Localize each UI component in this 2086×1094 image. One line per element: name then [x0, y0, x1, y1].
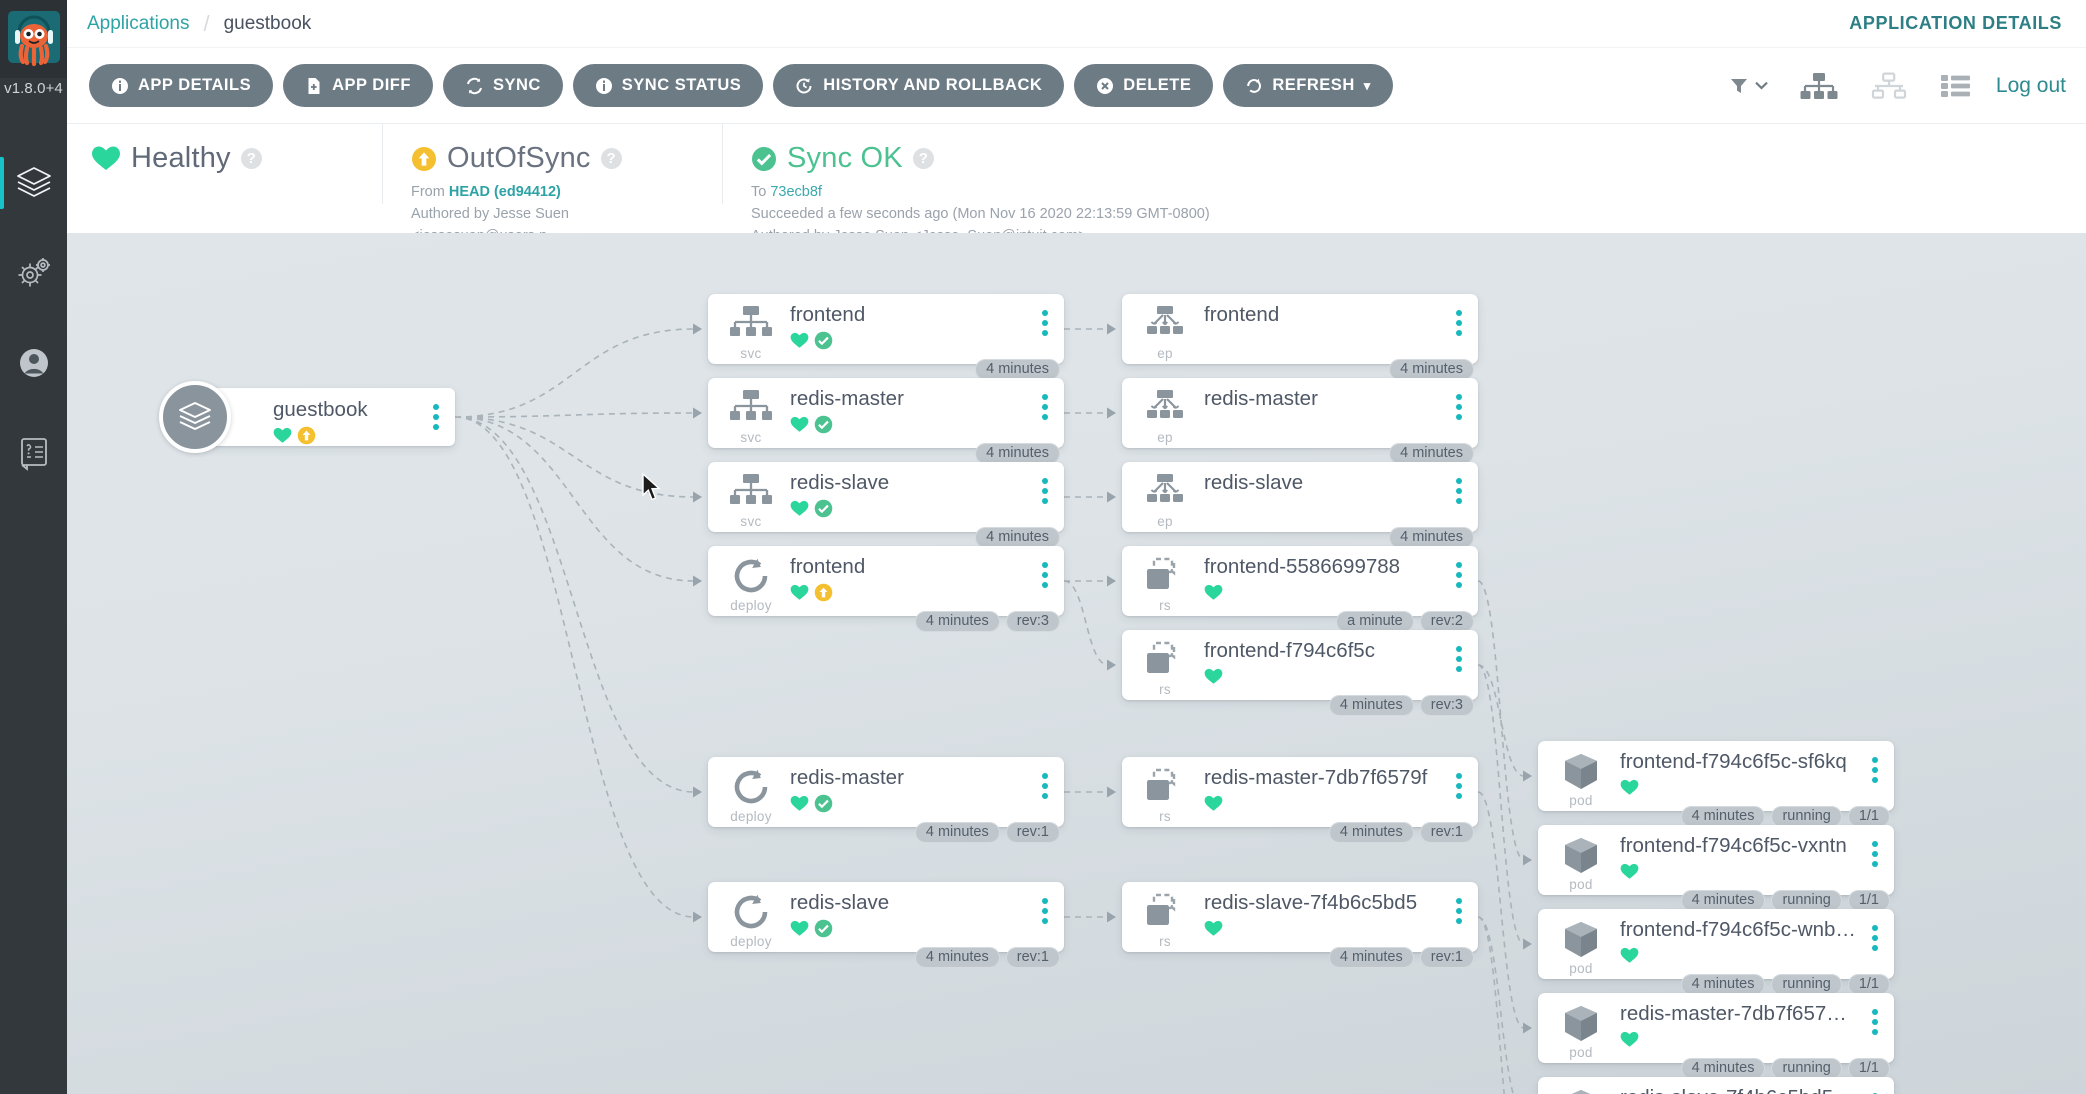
node-status-icons [1204, 794, 1223, 813]
node-kind-icon [724, 893, 778, 936]
left-sidebar: v1.8.0+4 [0, 0, 67, 1094]
chevron-down-icon [1755, 81, 1768, 90]
node-pod-fe-sf6kq[interactable]: pod frontend-f794c6f5c-sf6kq 4 minutesru… [1538, 741, 1894, 811]
node-kind-label: rs [1138, 682, 1192, 697]
node-pill: rev:1 [1420, 947, 1474, 968]
node-kind-label: ep [1138, 514, 1192, 529]
node-body: svc redis-master 4 minutes [708, 378, 1064, 448]
breadcrumb-applications[interactable]: Applications [87, 13, 189, 35]
edge-arrowhead [693, 576, 702, 587]
node-pill: 4 minutes [975, 359, 1060, 380]
node-pill: 4 minutes [1681, 806, 1766, 827]
node-title: redis-master-7db7f6579f-q5v8s [1620, 1002, 1858, 1026]
sync-revision[interactable]: HEAD (ed94412) [449, 184, 561, 200]
node-status-icons [1204, 919, 1223, 938]
node-kind-icon [724, 473, 778, 514]
argocd-application-view: v1.8.0+4 [0, 0, 2086, 1094]
node-kind-icon [1138, 893, 1192, 936]
node-deploy-redis-slave[interactable]: deploy redis-slave 4 minutesrev:1 [708, 882, 1064, 952]
tree-view-icon [1800, 71, 1838, 101]
heart-icon [1204, 667, 1223, 686]
node-kind-icon [724, 389, 778, 430]
node-pill: 4 minutes [1389, 359, 1474, 380]
node-menu-button[interactable] [1040, 394, 1050, 420]
deployment-icon [730, 893, 772, 931]
service-icon [729, 305, 773, 341]
edge-arrowhead [693, 787, 702, 798]
pod-icon [1559, 836, 1603, 876]
chevron-down-icon: ▾ [1364, 78, 1371, 94]
replicaset-icon [1143, 893, 1187, 931]
node-svc-redis-slave[interactable]: svc redis-slave 4 minutes [708, 462, 1064, 532]
info-icon [595, 77, 613, 95]
history-and-rollback-button-label: HISTORY AND ROLLBACK [823, 76, 1042, 95]
node-pill: rev:1 [1006, 822, 1060, 843]
node-title: redis-master [790, 387, 1028, 411]
check-circle-icon [814, 794, 833, 813]
operation-succeeded-line: Succeeded a few seconds ago (Mon Nov 16 … [751, 203, 1362, 225]
node-kind-icon [724, 305, 778, 346]
heart-icon [1620, 1030, 1639, 1049]
node-status-icons [1620, 862, 1639, 881]
edge-arrowhead [1523, 1023, 1532, 1034]
refresh-icon [1245, 77, 1263, 95]
node-deploy-redis-master[interactable]: deploy redis-master 4 minutesrev:1 [708, 757, 1064, 827]
edge-arrowhead [1107, 492, 1116, 503]
edge-arrowhead [693, 492, 702, 503]
heart-icon [1204, 794, 1223, 813]
node-body: ep frontend 4 minutes [1122, 294, 1478, 364]
node-status-icons [790, 499, 833, 518]
health-status-panel: Healthy ? [67, 124, 382, 175]
node-pill: 1/1 [1848, 806, 1890, 827]
node-pill: running [1771, 806, 1841, 827]
node-pills: 4 minutes [1389, 359, 1474, 380]
node-pills: a minuterev:2 [1336, 611, 1474, 632]
node-kind-label: pod [1554, 1045, 1608, 1060]
tree-view-button[interactable] [1784, 71, 1854, 101]
node-status-icons [273, 426, 316, 445]
node-kind-icon [1138, 768, 1192, 811]
deployment-icon [730, 557, 772, 595]
node-kind-label: deploy [724, 598, 778, 613]
node-body: rs redis-master-7db7f6579f 4 minutesrev:… [1122, 757, 1478, 827]
service-icon [729, 473, 773, 509]
node-body: pod frontend-f794c6f5c-vxntn 4 minutesru… [1538, 825, 1894, 895]
heart-icon [273, 426, 292, 445]
node-pill: 4 minutes [975, 443, 1060, 464]
heart-icon [91, 145, 121, 172]
check-circle-icon [814, 415, 833, 434]
node-pills: 4 minutesrunning1/1 [1681, 890, 1890, 911]
arrow-up-circle-icon [411, 146, 437, 172]
node-kind-icon [1138, 389, 1192, 430]
top-header: Applications / guestbook APPLICATION DET… [67, 0, 2086, 48]
node-menu-button[interactable] [1870, 925, 1880, 951]
pod-icon [1559, 1088, 1603, 1094]
operation-revision-line: To 73ecb8f [751, 181, 1362, 203]
edge-arrowhead [1107, 408, 1116, 419]
node-title: frontend [790, 555, 1028, 579]
status-strip: Healthy ? OutOfSync ? From HEAD (ed94412… [67, 124, 2086, 233]
node-kind-label: rs [1138, 598, 1192, 613]
sync-button[interactable]: SYNC [443, 64, 563, 107]
operation-to-prefix: To [751, 184, 770, 200]
argo-logo[interactable] [0, 0, 67, 78]
node-title: redis-slave [790, 471, 1028, 495]
node-body: pod redis-slave-7f4b6c5bd5-mrlt4 4 minut… [1538, 1077, 1894, 1094]
node-menu-button[interactable] [1454, 310, 1464, 336]
edge-arrowhead [1107, 324, 1116, 335]
node-title: guestbook [273, 398, 368, 422]
node-title: redis-slave [1204, 471, 1442, 495]
node-menu-button[interactable] [1454, 394, 1464, 420]
node-menu-button[interactable] [431, 404, 441, 430]
node-body: deploy redis-master 4 minutesrev:1 [708, 757, 1064, 827]
sidebar-item-documentation[interactable] [0, 408, 67, 498]
book-icon [17, 434, 51, 472]
node-pills: 4 minutesrev:1 [1329, 822, 1474, 843]
filter-button[interactable] [1713, 76, 1784, 96]
node-menu-button[interactable] [1040, 562, 1050, 588]
heart-icon [1620, 862, 1639, 881]
node-pill: a minute [1336, 611, 1414, 632]
node-body: ep redis-slave 4 minutes [1122, 462, 1478, 532]
breadcrumb-separator: / [203, 11, 209, 37]
node-pills: 4 minutes [975, 527, 1060, 548]
node-kind-icon [1138, 557, 1192, 600]
node-body: pod redis-master-7db7f6579f-q5v8s 4 minu… [1538, 993, 1894, 1063]
node-pill: 4 minutes [1329, 695, 1414, 716]
delete-button-label: DELETE [1123, 76, 1191, 95]
sidebar-item-applications[interactable] [0, 138, 67, 228]
octopus-logo-icon [7, 10, 61, 68]
node-rs-redis-slave[interactable]: rs redis-slave-7f4b6c5bd5 4 minutesrev:1 [1122, 882, 1478, 952]
heart-icon [790, 415, 809, 434]
edge-arrowhead [693, 324, 702, 335]
check-circle-icon [814, 919, 833, 938]
node-title: redis-master [790, 766, 1028, 790]
sidebar-nav [0, 138, 67, 498]
history-and-rollback-button[interactable]: HISTORY AND ROLLBACK [773, 64, 1064, 107]
close-circle-icon [1096, 77, 1114, 95]
edge-arrowhead [1107, 912, 1116, 923]
node-pill: rev:2 [1420, 611, 1474, 632]
node-menu-button[interactable] [1454, 478, 1464, 504]
node-pill: 4 minutes [1329, 822, 1414, 843]
node-kind-label: deploy [724, 934, 778, 949]
node-status-icons [1204, 667, 1223, 686]
check-circle-icon [814, 499, 833, 518]
node-title: frontend-f794c6f5c-wnbmp [1620, 918, 1858, 942]
node-body: deploy frontend 4 minutesrev:3 [708, 546, 1064, 616]
replicaset-icon [1143, 557, 1187, 595]
operation-status-panel: Sync OK ? To 73ecb8f Succeeded a few sec… [722, 124, 1362, 204]
node-kind-label: ep [1138, 430, 1192, 445]
info-icon [111, 77, 129, 95]
node-title: frontend-f794c6f5c-sf6kq [1620, 750, 1858, 774]
node-body: rs frontend-f794c6f5c 4 minutesrev:3 [1122, 630, 1478, 700]
node-kind-icon [1554, 1088, 1608, 1094]
node-status-icons [790, 583, 833, 602]
check-circle-icon [814, 331, 833, 350]
arrow-up-circle-icon [297, 426, 316, 445]
node-pills: 4 minutesrev:1 [915, 947, 1060, 968]
refresh-button-label: REFRESH [1272, 76, 1354, 95]
node-kind-icon [1138, 305, 1192, 346]
node-app-icon-badge[interactable] [159, 381, 231, 453]
node-pod-rs-mrlt4[interactable]: pod redis-slave-7f4b6c5bd5-mrlt4 4 minut… [1538, 1077, 1894, 1094]
gear-icon [15, 256, 53, 290]
network-view-icon [1870, 71, 1908, 101]
node-pill: 4 minutes [1389, 443, 1474, 464]
heart-icon [790, 919, 809, 938]
toolbar-buttons: APP DETAILS APP DIFF SYNC [89, 64, 1393, 107]
node-kind-icon [1554, 920, 1608, 965]
heart-icon [1204, 919, 1223, 938]
node-deploy-frontend[interactable]: deploy frontend 4 minutesrev:3 [708, 546, 1064, 616]
node-pills: 4 minutes [1389, 443, 1474, 464]
node-rs-redis-master[interactable]: rs redis-master-7db7f6579f 4 minutesrev:… [1122, 757, 1478, 827]
node-menu-button[interactable] [1040, 310, 1050, 336]
node-body: rs frontend-5586699788 a minuterev:2 [1122, 546, 1478, 616]
sidebar-item-user-info[interactable] [0, 318, 67, 408]
node-menu-button[interactable] [1040, 898, 1050, 924]
node-ep-redis-master[interactable]: ep redis-master 4 minutes [1122, 378, 1478, 448]
node-menu-button[interactable] [1454, 562, 1464, 588]
replicaset-icon [1143, 641, 1187, 679]
node-menu-button[interactable] [1040, 478, 1050, 504]
node-kind-label: deploy [724, 809, 778, 824]
node-kind-icon [1138, 641, 1192, 684]
node-pod-rm-q5v8s[interactable]: pod redis-master-7db7f6579f-q5v8s 4 minu… [1538, 993, 1894, 1063]
edge-arrowhead [1107, 787, 1116, 798]
node-pills: 4 minutesrunning1/1 [1681, 806, 1890, 827]
operation-help-icon[interactable]: ? [913, 148, 934, 169]
node-title: frontend [1204, 303, 1442, 327]
node-rs-frontend-f794c6f5c[interactable]: rs frontend-f794c6f5c 4 minutesrev:3 [1122, 630, 1478, 700]
node-pill: 4 minutes [1329, 947, 1414, 968]
sync-icon [465, 77, 484, 95]
node-title: redis-master [1204, 387, 1442, 411]
node-pills: 4 minutes [975, 359, 1060, 380]
heart-icon [1620, 778, 1639, 797]
node-pill: 4 minutes [915, 611, 1000, 632]
node-kind-label: pod [1554, 793, 1608, 808]
node-kind-label: rs [1138, 934, 1192, 949]
node-title: frontend-5586699788 [1204, 555, 1442, 579]
pod-icon [1559, 920, 1603, 960]
node-pills: 4 minutesrunning1/1 [1681, 1058, 1890, 1079]
endpoint-icon [1143, 305, 1187, 341]
node-pill: 4 minutes [1681, 974, 1766, 995]
sync-status-button[interactable]: SYNC STATUS [573, 64, 763, 107]
node-title: frontend-f794c6f5c [1204, 639, 1442, 663]
node-title: frontend [790, 303, 1028, 327]
breadcrumb-current: guestbook [224, 13, 312, 35]
app-details-button-label: APP DETAILS [138, 76, 251, 95]
list-view-icon [1940, 72, 1972, 100]
file-diff-icon [305, 77, 323, 95]
heart-icon [1204, 583, 1223, 602]
user-icon [15, 344, 53, 382]
node-status-icons [790, 415, 833, 434]
node-pill: 4 minutes [1389, 527, 1474, 548]
service-icon [729, 389, 773, 425]
edge-arrowhead [1523, 855, 1532, 866]
heart-icon [790, 499, 809, 518]
node-status-icons [1620, 946, 1639, 965]
node-pod-fe-vxntn[interactable]: pod frontend-f794c6f5c-vxntn 4 minutesru… [1538, 825, 1894, 895]
operation-status-title: Sync OK [787, 142, 903, 175]
node-status-icons [1204, 583, 1223, 602]
node-menu-button[interactable] [1454, 646, 1464, 672]
node-body: deploy redis-slave 4 minutesrev:1 [708, 882, 1064, 952]
node-pill: 4 minutes [915, 947, 1000, 968]
node-body: svc redis-slave 4 minutes [708, 462, 1064, 532]
node-body: pod frontend-f794c6f5c-wnbmp 4 minutesru… [1538, 909, 1894, 979]
node-body: ep redis-master 4 minutes [1122, 378, 1478, 448]
node-status-icons [790, 331, 833, 350]
sync-revision-line: From HEAD (ed94412) [411, 181, 722, 203]
node-ep-frontend[interactable]: ep frontend 4 minutes [1122, 294, 1478, 364]
refresh-button[interactable]: REFRESH ▾ [1223, 64, 1392, 107]
node-body: rs redis-slave-7f4b6c5bd5 4 minutesrev:1 [1122, 882, 1478, 952]
replicaset-icon [1143, 768, 1187, 806]
sync-button-label: SYNC [493, 76, 541, 95]
app-details-button[interactable]: APP DETAILS [89, 64, 273, 107]
node-svc-frontend[interactable]: svc frontend 4 minutes [708, 294, 1064, 364]
node-title: frontend-f794c6f5c-vxntn [1620, 834, 1858, 858]
mouse-cursor [641, 473, 663, 503]
node-title: redis-slave-7f4b6c5bd5-mrlt4 [1620, 1086, 1858, 1094]
node-kind-label: svc [724, 346, 778, 361]
sidebar-item-settings[interactable] [0, 228, 67, 318]
heart-icon [790, 583, 809, 602]
node-menu-button[interactable] [1870, 1009, 1880, 1035]
node-kind-label: rs [1138, 809, 1192, 824]
check-circle-icon [751, 146, 777, 172]
node-pill: rev:3 [1006, 611, 1060, 632]
node-svc-redis-master[interactable]: svc redis-master 4 minutes [708, 378, 1064, 448]
node-pill: running [1771, 1058, 1841, 1079]
node-menu-button[interactable] [1870, 841, 1880, 867]
sync-from-prefix: From [411, 184, 449, 200]
node-body: pod frontend-f794c6f5c-sf6kq 4 minutesru… [1538, 741, 1894, 811]
health-status-title: Healthy [131, 142, 231, 175]
node-pill: rev:1 [1420, 822, 1474, 843]
node-pill: 1/1 [1848, 1058, 1890, 1079]
node-pill: 1/1 [1848, 974, 1890, 995]
arrow-up-circle-icon [814, 583, 833, 602]
node-pills: 4 minutesrev:1 [915, 822, 1060, 843]
node-pill: 4 minutes [1681, 890, 1766, 911]
app-diff-button[interactable]: APP DIFF [283, 64, 433, 107]
node-status-icons [790, 919, 833, 938]
sync-status-title: OutOfSync [447, 142, 591, 175]
node-pills: 4 minutesrunning1/1 [1681, 974, 1890, 995]
node-body: svc frontend 4 minutes [708, 294, 1064, 364]
node-kind-label: svc [724, 514, 778, 529]
sync-status-button-label: SYNC STATUS [622, 76, 741, 95]
edge-arrowhead [1107, 576, 1116, 587]
sync-help-icon[interactable]: ? [601, 148, 622, 169]
node-status-icons [1620, 1030, 1639, 1049]
node-pill: rev:3 [1420, 695, 1474, 716]
edge-arrowhead [1523, 939, 1532, 950]
network-view-button[interactable] [1854, 71, 1924, 101]
pod-icon [1559, 1004, 1603, 1044]
list-view-button[interactable] [1924, 72, 1988, 100]
node-status-icons [1620, 778, 1639, 797]
node-pill: rev:1 [1006, 947, 1060, 968]
heart-icon [1620, 946, 1639, 965]
node-pod-fe-wnbmp[interactable]: pod frontend-f794c6f5c-wnbmp 4 minutesru… [1538, 909, 1894, 979]
edge-arrowhead [693, 912, 702, 923]
logout-button[interactable]: Log out [1996, 74, 2066, 98]
heart-icon [790, 331, 809, 350]
edge-arrowhead [1523, 771, 1532, 782]
node-pill: running [1771, 974, 1841, 995]
node-pills: 4 minutes [1389, 527, 1474, 548]
node-pills: 4 minutesrev:3 [915, 611, 1060, 632]
node-menu-button[interactable] [1454, 773, 1464, 799]
action-toolbar: APP DETAILS APP DIFF SYNC [67, 48, 2086, 124]
operation-revision[interactable]: 73ecb8f [770, 184, 822, 200]
deployment-icon [730, 768, 772, 806]
node-pills: 4 minutes [975, 443, 1060, 464]
layers-icon [14, 165, 54, 201]
health-help-icon[interactable]: ? [241, 148, 262, 169]
node-menu-button[interactable] [1870, 757, 1880, 783]
node-pills: 4 minutesrev:3 [1329, 695, 1474, 716]
endpoint-icon [1143, 473, 1187, 509]
delete-button[interactable]: DELETE [1074, 64, 1213, 107]
pod-icon [1559, 752, 1603, 792]
resource-tree-canvas[interactable]: guestbook [67, 233, 2086, 1094]
node-ep-redis-slave[interactable]: ep redis-slave 4 minutes [1122, 462, 1478, 532]
node-menu-button[interactable] [1454, 898, 1464, 924]
node-kind-icon [1138, 473, 1192, 514]
toolbar-right-controls: Log out [1713, 71, 2066, 101]
node-kind-icon [724, 557, 778, 600]
node-status-icons [790, 794, 833, 813]
version-label: v1.8.0+4 [0, 80, 67, 97]
application-details-link[interactable]: APPLICATION DETAILS [1849, 13, 2062, 34]
node-title: redis-slave-7f4b6c5bd5 [1204, 891, 1442, 915]
node-kind-label: ep [1138, 346, 1192, 361]
node-kind-icon [724, 768, 778, 811]
node-pill: 4 minutes [915, 822, 1000, 843]
heart-icon [790, 794, 809, 813]
node-title: redis-master-7db7f6579f [1204, 766, 1442, 790]
node-kind-label: pod [1554, 877, 1608, 892]
sync-status-panel: OutOfSync ? From HEAD (ed94412) Authored… [382, 124, 722, 204]
node-kind-icon [1554, 1004, 1608, 1049]
filter-icon [1729, 76, 1751, 96]
node-pill: running [1771, 890, 1841, 911]
node-pill: 4 minutes [975, 527, 1060, 548]
node-pill: 4 minutes [1681, 1058, 1766, 1079]
node-menu-button[interactable] [1040, 773, 1050, 799]
node-kind-label: svc [724, 430, 778, 445]
node-kind-icon [1554, 836, 1608, 881]
node-rs-frontend-5586699788[interactable]: rs frontend-5586699788 a minuterev:2 [1122, 546, 1478, 616]
endpoint-icon [1143, 389, 1187, 425]
history-icon [795, 77, 814, 95]
layers-icon [175, 399, 215, 435]
edge-arrowhead [1107, 660, 1116, 671]
